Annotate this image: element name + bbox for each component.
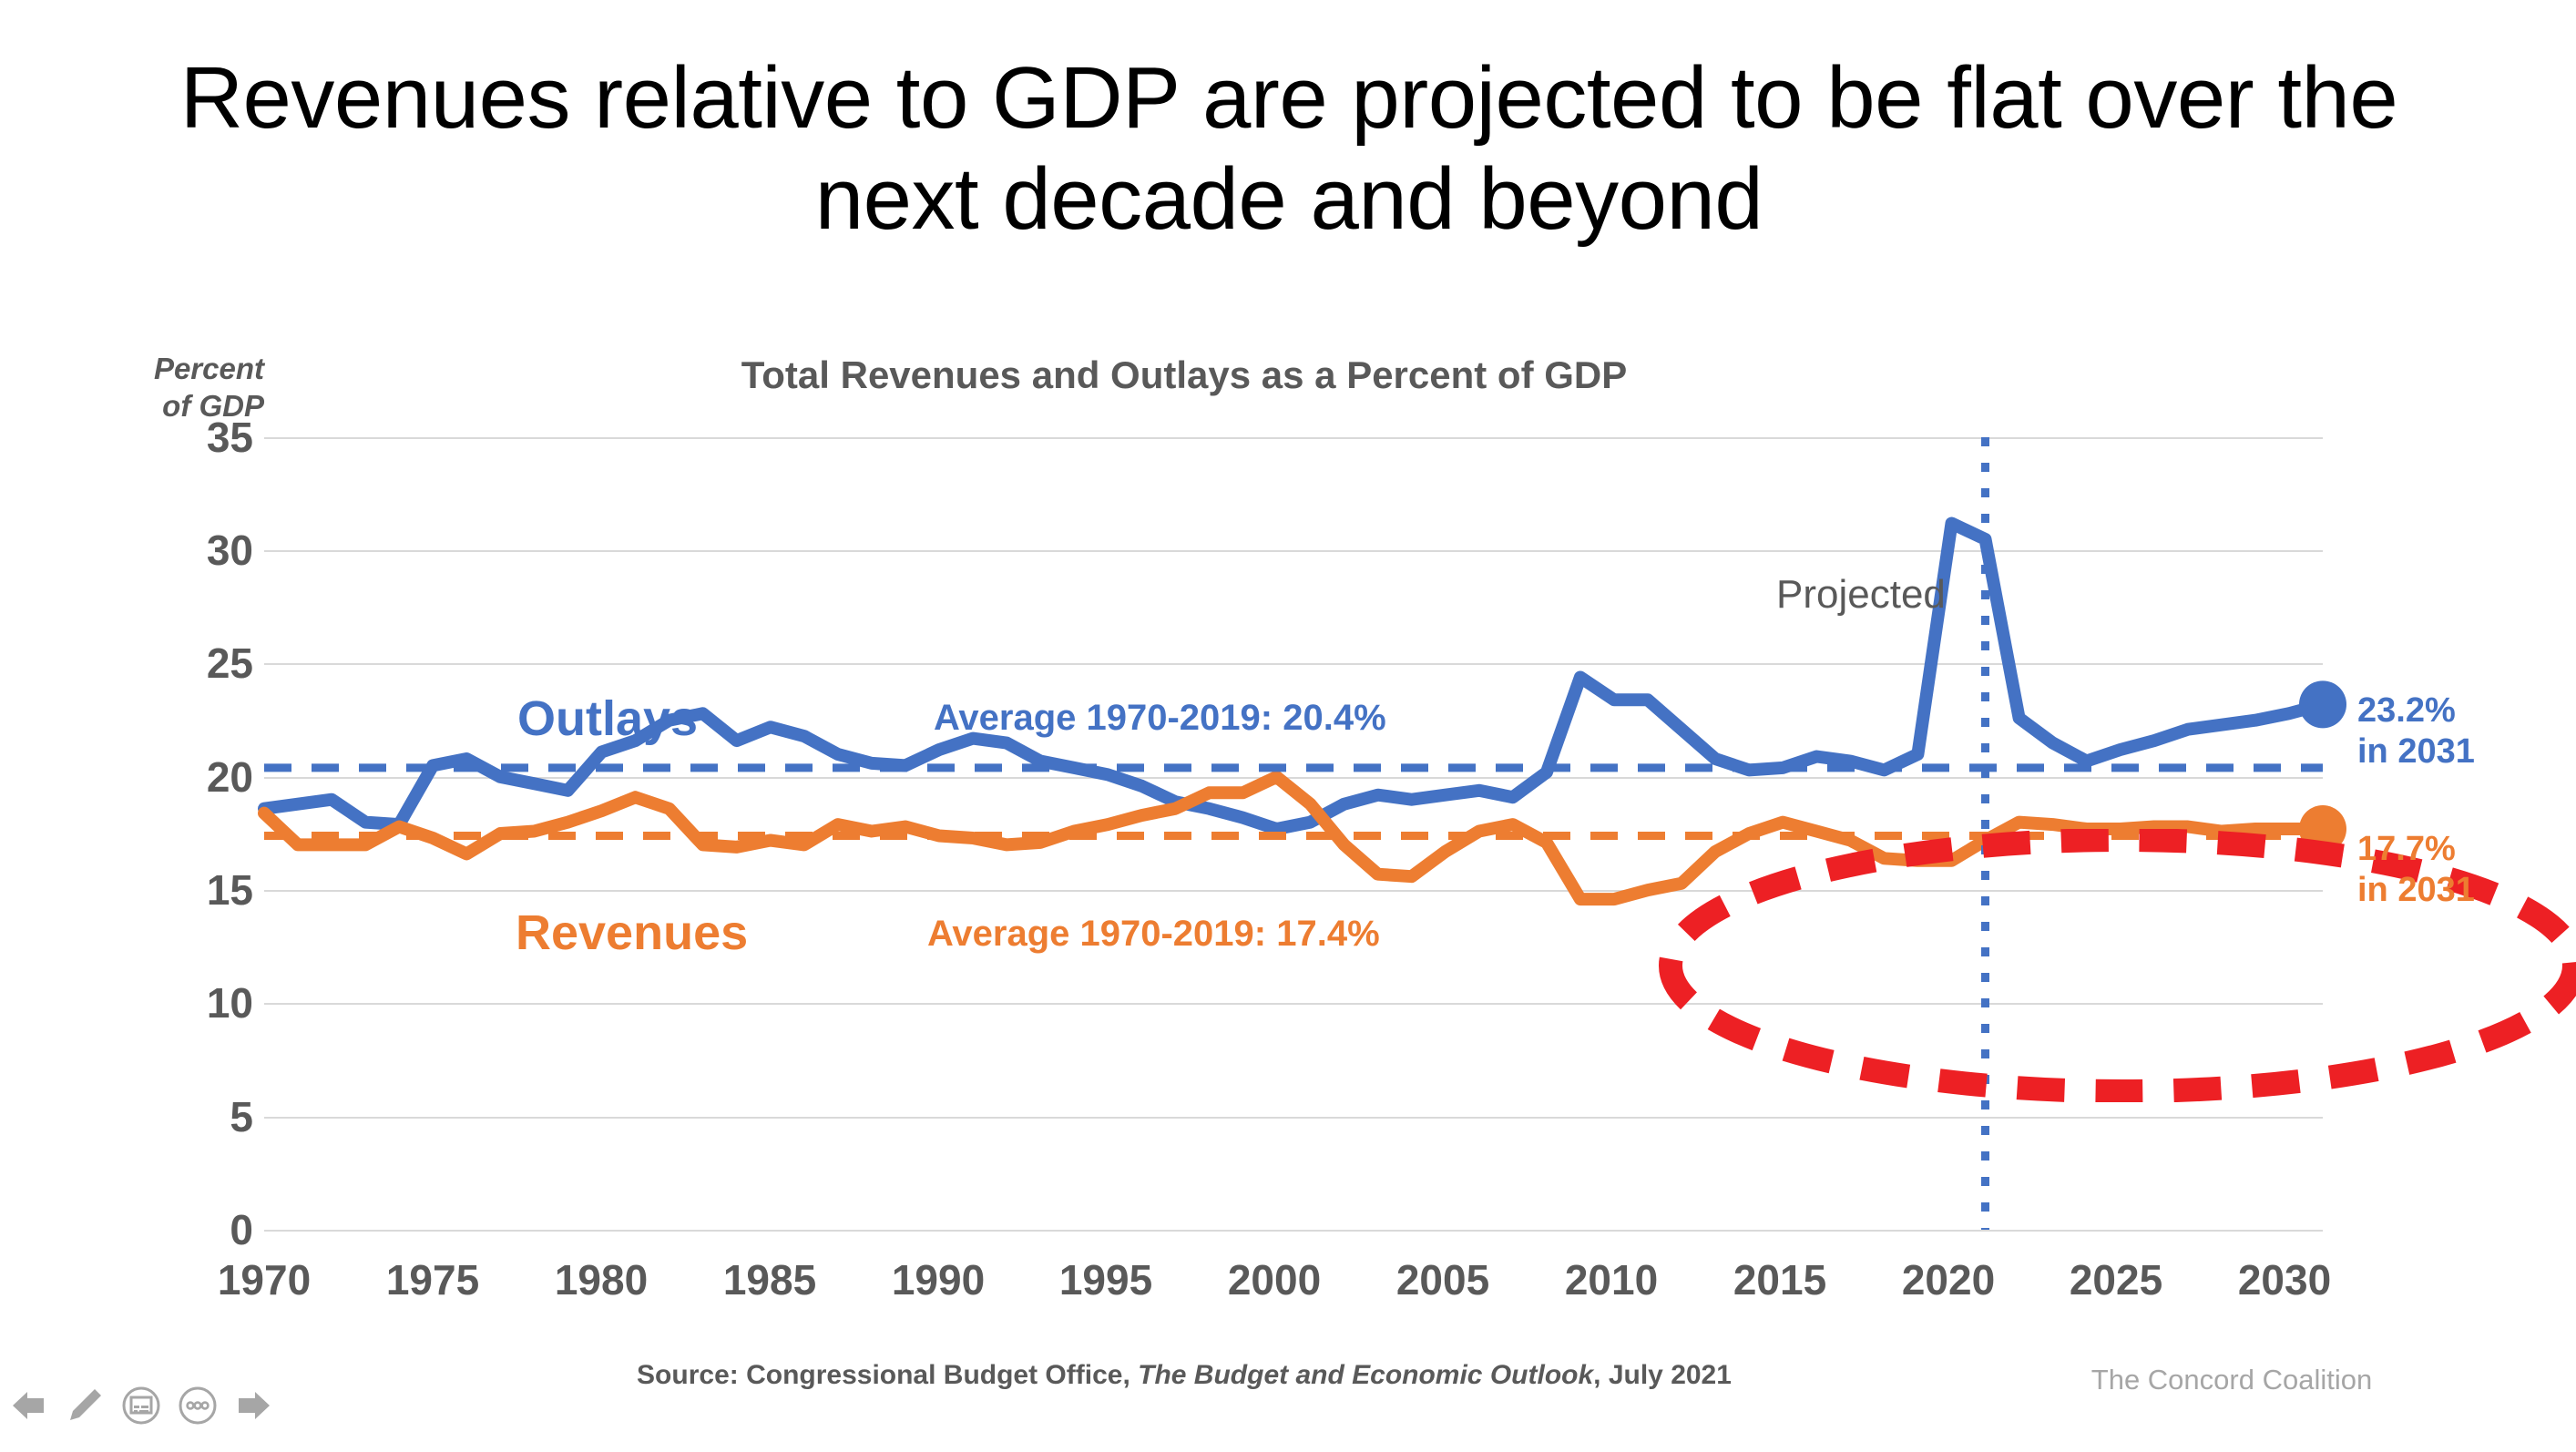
x-axis-tick: 2005	[1361, 1255, 1525, 1304]
average-revenues-label: Average 1970-2019: 17.4%	[927, 914, 1380, 955]
x-axis-tick: 1970	[182, 1255, 346, 1304]
y-axis-tick: 35	[107, 413, 253, 462]
y-axis-tick: 5	[107, 1092, 253, 1141]
projected-label: Projected	[1776, 572, 1946, 618]
y-axis-tick: 20	[107, 752, 253, 802]
series-canvas	[264, 437, 2323, 1230]
x-axis-tick: 1985	[688, 1255, 852, 1304]
more-options-icon[interactable]	[177, 1385, 219, 1426]
revenues-endpoint-year: in 2031	[2357, 871, 2475, 909]
slide-title: Revenues relative to GDP are projected t…	[164, 47, 2414, 251]
x-axis-tick: 1990	[856, 1255, 1020, 1304]
y-axis-tick: 10	[107, 978, 253, 1028]
organization-brand: The Concord Coalition	[2004, 1364, 2459, 1396]
x-axis-tick: 1975	[351, 1255, 515, 1304]
chart-container: Percentof GDP Total Revenues and Outlays…	[0, 337, 2576, 1303]
gridline	[264, 1230, 2323, 1232]
x-axis-tick: 2020	[1866, 1255, 2030, 1304]
outlays-endpoint-year: in 2031	[2357, 732, 2475, 771]
source-note: Source: Congressional Budget Office, The…	[547, 1360, 1822, 1391]
average-outlays-label: Average 1970-2019: 20.4%	[934, 698, 1386, 739]
revenues-endpoint-value: 17.7%	[2357, 830, 2456, 868]
x-axis-tick: 2025	[2034, 1255, 2198, 1304]
outlays-series-label: Outlays	[517, 690, 698, 747]
y-axis-tick: 25	[107, 639, 253, 688]
y-axis-tick: 0	[107, 1205, 253, 1254]
x-axis-tick: 2010	[1529, 1255, 1693, 1304]
pen-tool-icon[interactable]	[64, 1385, 106, 1426]
chart-title: Total Revenues and Outlays as a Percent …	[455, 353, 1913, 397]
outlays-endpoint-value: 23.2%	[2357, 691, 2456, 730]
y-axis-tick: 15	[107, 865, 253, 915]
source-suffix: , July 2021	[1593, 1360, 1732, 1390]
plot-area: 35 30 25 20 15 10 5 0 1970 1975 1980 198…	[264, 437, 2323, 1230]
source-publication-title: The Budget and Economic Outlook	[1138, 1360, 1593, 1390]
revenues-series-label: Revenues	[516, 905, 748, 961]
y-axis-tick: 30	[107, 526, 253, 575]
next-slide-arrow-icon[interactable]	[233, 1385, 275, 1426]
x-axis-tick: 2015	[1698, 1255, 1862, 1304]
x-axis-tick: 2030	[2203, 1255, 2366, 1304]
presenter-toolbar[interactable]	[7, 1385, 275, 1426]
revenues-endpoint-marker	[2299, 805, 2346, 853]
outlays-endpoint-marker	[2299, 680, 2346, 728]
outlays-endpoint-label: 23.2% in 2031	[2357, 690, 2475, 772]
x-axis-tick: 1980	[519, 1255, 683, 1304]
previous-slide-arrow-icon[interactable]	[7, 1385, 49, 1426]
x-axis-tick: 1995	[1024, 1255, 1188, 1304]
presentation-slide: Revenues relative to GDP are projected t…	[0, 0, 2576, 1452]
x-axis-tick: 2000	[1192, 1255, 1356, 1304]
source-prefix: Source: Congressional Budget Office,	[637, 1360, 1130, 1390]
revenues-endpoint-label: 17.7% in 2031	[2357, 829, 2475, 911]
subtitles-toggle-icon[interactable]	[120, 1385, 162, 1426]
